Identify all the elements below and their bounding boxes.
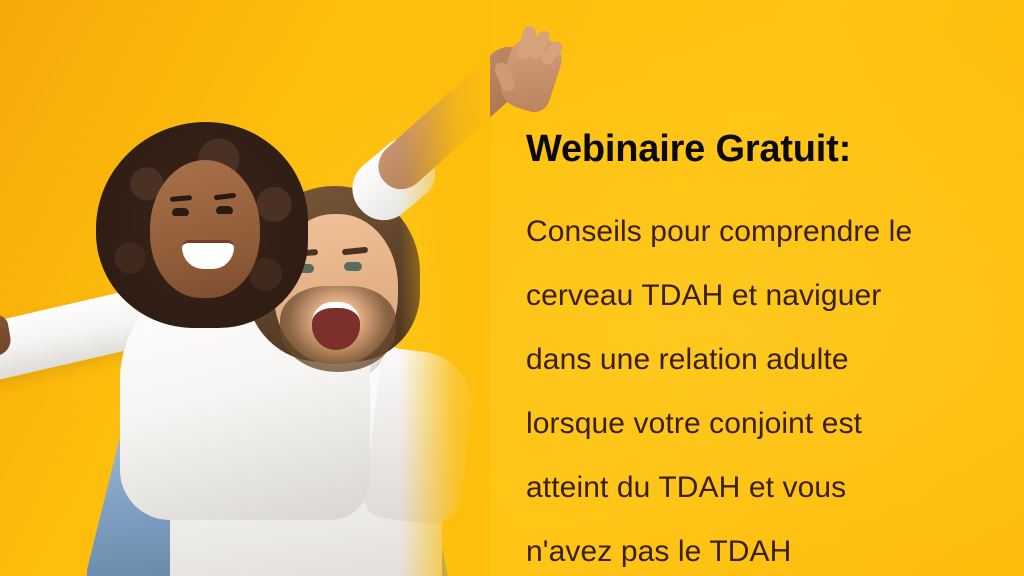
woman-left-eye <box>172 208 189 216</box>
banner-copy: Webinaire Gratuit: Conseils pour compren… <box>526 126 996 576</box>
banner-subcopy: Conseils pour comprendre le cerveau TDAH… <box>526 200 996 576</box>
webinar-promo-banner: Webinaire Gratuit: Conseils pour compren… <box>0 0 1024 576</box>
couple-photo <box>0 0 470 576</box>
man-open-mouth <box>312 302 360 350</box>
banner-headline: Webinaire Gratuit: <box>526 126 996 172</box>
woman-face <box>150 160 260 298</box>
woman-right-eye <box>216 206 233 214</box>
photo-edge-blend <box>400 0 490 576</box>
man-right-eye <box>344 262 362 271</box>
